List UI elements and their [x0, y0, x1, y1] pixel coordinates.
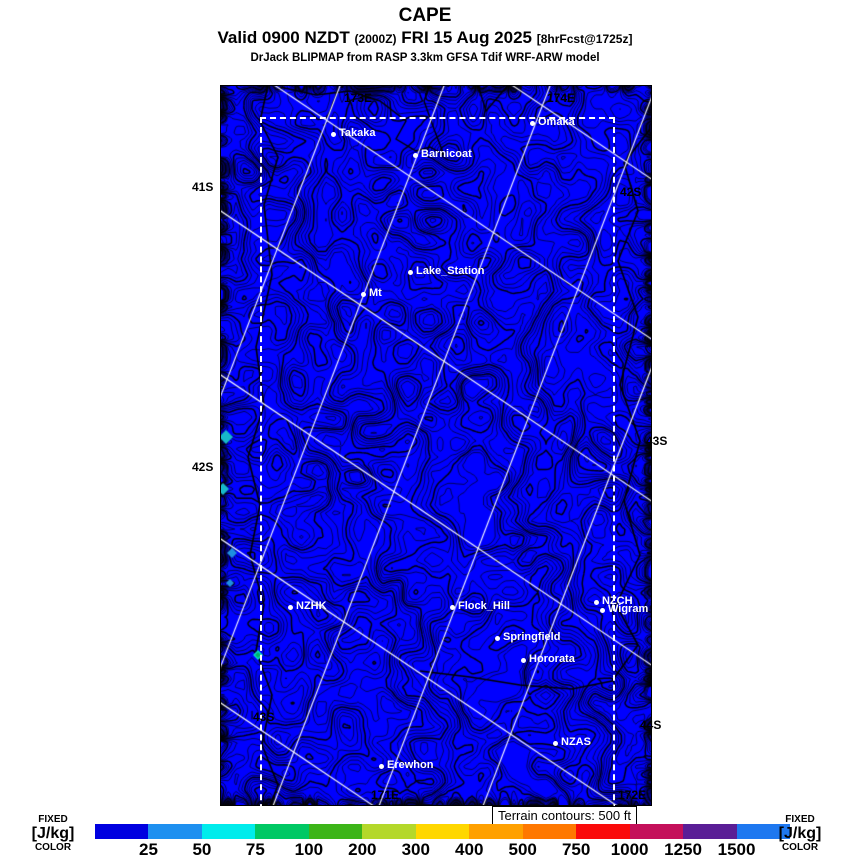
graticule-label: 42S: [192, 460, 213, 474]
graticule-label: 172E: [618, 788, 646, 802]
colorbar-tick-200: 200: [348, 840, 376, 860]
model-description: DrJack BLIPMAP from RASP 3.3km GFSA Tdif…: [0, 50, 850, 66]
colorbar-tick-25: 25: [139, 840, 158, 860]
station-label: Takaka: [339, 127, 376, 139]
graticule-label: 173E: [344, 91, 372, 105]
station-marker[interactable]: [495, 636, 500, 641]
valid-date: FRI 15 Aug 2025: [401, 28, 532, 47]
colorbar-tick-750: 750: [562, 840, 590, 860]
colorbar-swatch-7: [469, 824, 522, 839]
colorbar-swatch-10: [630, 824, 683, 839]
colorbar-tick-labels: 255075100200300400500750100012501500: [95, 840, 790, 862]
graticule-label: 42S: [620, 185, 641, 199]
colorbar-swatch-9: [576, 824, 629, 839]
station-marker[interactable]: [361, 292, 366, 297]
units-label-right: [J/kg]: [765, 825, 835, 842]
color-label-right: COLOR: [765, 842, 835, 853]
valid-time-line: Valid 0900 NZDT (2000Z) FRI 15 Aug 2025 …: [0, 27, 850, 50]
colorbar-swatch-8: [523, 824, 576, 839]
colorbar-tick-500: 500: [509, 840, 537, 860]
colorbar[interactable]: 255075100200300400500750100012501500: [0, 820, 850, 860]
station-label: Wigram: [608, 603, 648, 615]
colorbar-swatch-11: [683, 824, 736, 839]
station-marker[interactable]: [530, 121, 535, 126]
station-label: NZAS: [561, 736, 591, 748]
station-marker[interactable]: [553, 741, 558, 746]
station-label: Erewhon: [387, 759, 433, 771]
station-marker[interactable]: [521, 658, 526, 663]
station-marker[interactable]: [413, 153, 418, 158]
header: CAPE Valid 0900 NZDT (2000Z) FRI 15 Aug …: [0, 0, 850, 66]
colorbar-tick-1500: 1500: [718, 840, 756, 860]
colorbar-swatch-6: [416, 824, 469, 839]
cape-map-canvas[interactable]: [220, 85, 652, 806]
colorbar-swatch-5: [362, 824, 415, 839]
colorbar-legend-right: FIXED [J/kg] COLOR: [765, 814, 835, 853]
fixed-label-right: FIXED: [765, 814, 835, 825]
colorbar-tick-300: 300: [402, 840, 430, 860]
station-label: Mt: [369, 287, 382, 299]
graticule-label: 41S: [192, 180, 213, 194]
forecast-tag: [8hrFcst@1725z]: [537, 32, 633, 46]
station-label: Omaka: [538, 116, 575, 128]
station-label: Flock_Hill: [458, 600, 510, 612]
graticule-label: 171E: [371, 788, 399, 802]
colorbar-tick-50: 50: [192, 840, 211, 860]
colorbar-swatch-3: [255, 824, 308, 839]
colorbar-swatch-2: [202, 824, 255, 839]
colorbar-swatch-1: [148, 824, 201, 839]
graticule-label: 44S: [640, 718, 661, 732]
station-label: NZHK: [296, 600, 327, 612]
valid-time-utc: (2000Z): [355, 32, 397, 46]
station-label: Barnicoat: [421, 148, 472, 160]
colorbar-swatches[interactable]: [95, 824, 790, 839]
colorbar-tick-400: 400: [455, 840, 483, 860]
graticule-label: 43S: [253, 710, 274, 724]
station-marker[interactable]: [331, 132, 336, 137]
page-title: CAPE: [0, 0, 850, 27]
station-label: Hororata: [529, 653, 575, 665]
station-marker[interactable]: [408, 270, 413, 275]
colorbar-swatch-4: [309, 824, 362, 839]
station-label: Springfield: [503, 631, 560, 643]
graticule-label: 174E: [547, 91, 575, 105]
colorbar-tick-1000: 1000: [611, 840, 649, 860]
station-marker[interactable]: [379, 764, 384, 769]
valid-time-prefix: Valid 0900 NZDT: [218, 28, 350, 47]
graticule-label: 43S: [646, 434, 667, 448]
colorbar-tick-100: 100: [295, 840, 323, 860]
colorbar-tick-1250: 1250: [664, 840, 702, 860]
map-panel[interactable]: TakakaOmakaBarnicoatLake_StationMtNZHKFl…: [220, 85, 652, 806]
station-label: Lake_Station: [416, 265, 484, 277]
station-marker[interactable]: [288, 605, 293, 610]
station-marker[interactable]: [450, 605, 455, 610]
station-marker[interactable]: [600, 608, 605, 613]
colorbar-swatch-0: [95, 824, 148, 839]
colorbar-tick-75: 75: [246, 840, 265, 860]
station-marker[interactable]: [594, 600, 599, 605]
